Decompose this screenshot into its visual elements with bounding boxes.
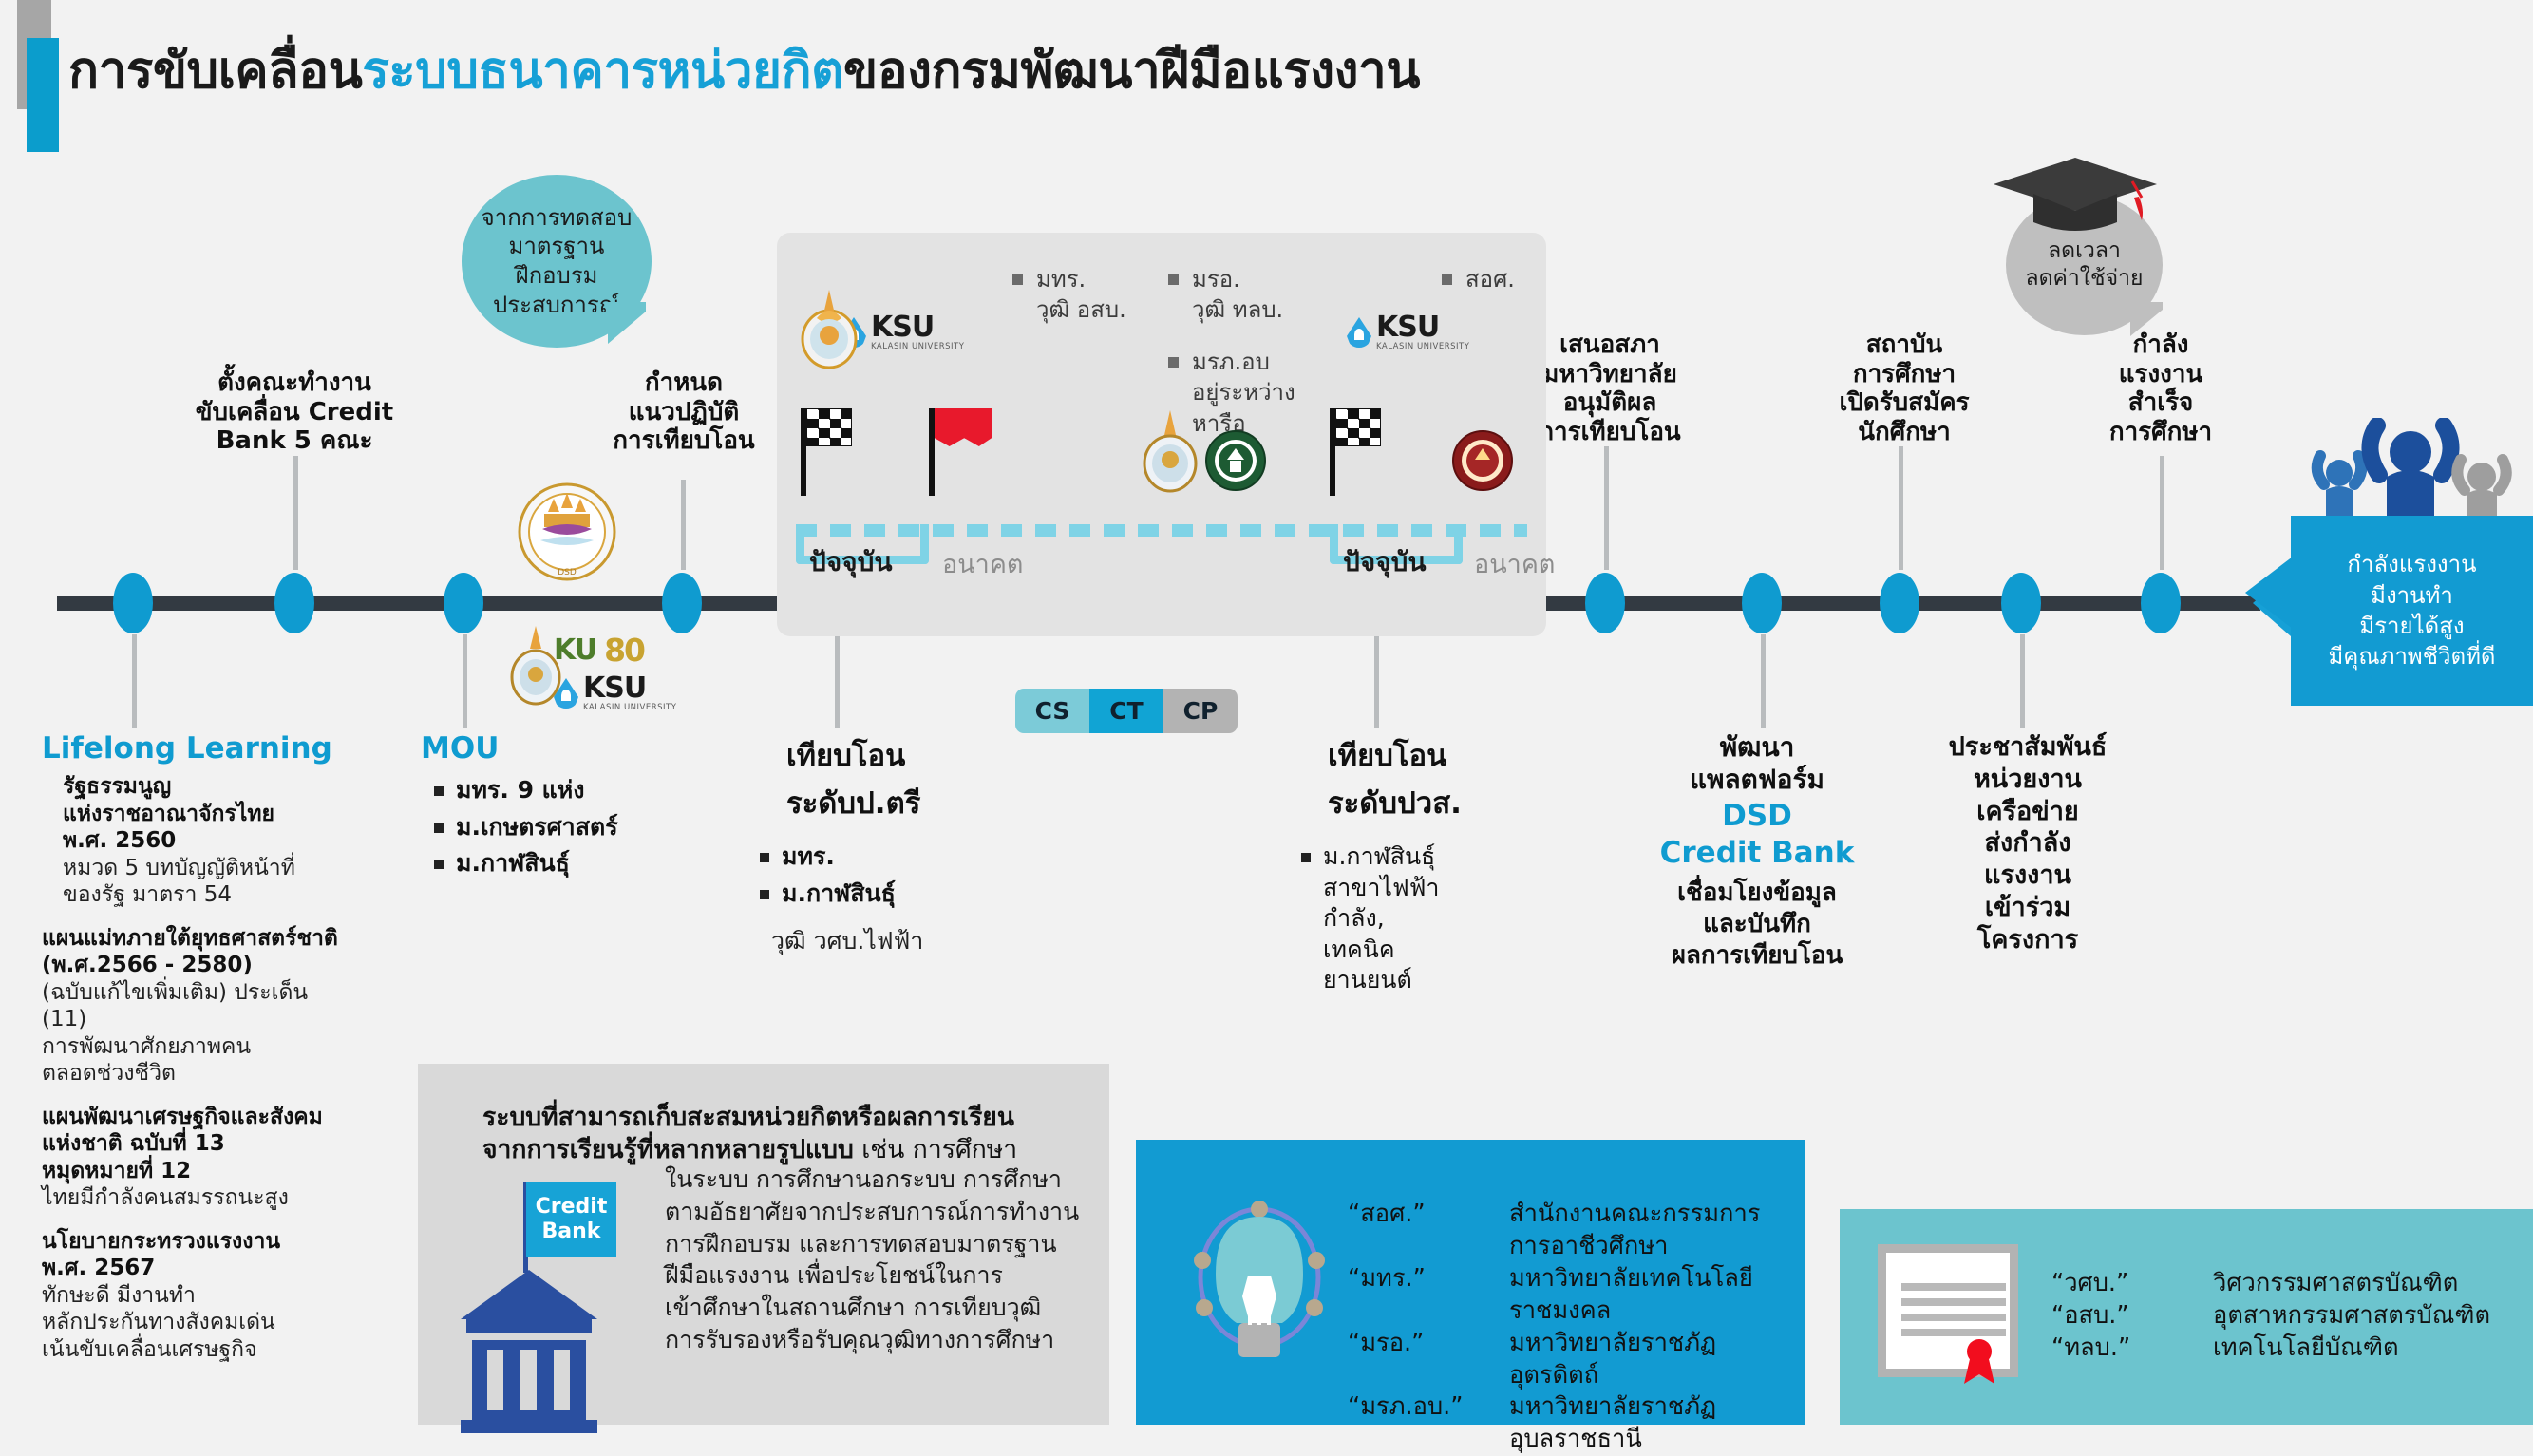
block-line: พ.ศ. 2567	[42, 1255, 355, 1282]
timeline-node-9[interactable]	[1880, 573, 1919, 633]
chip-cp[interactable]: CP	[1163, 689, 1238, 733]
timeline-stem-up-7	[1604, 446, 1609, 570]
outcome-line: กำลังแรงงาน	[2328, 549, 2495, 579]
item-label: ม.กาฬสินธุ์ สาขาไฟฟ้า กำลัง, เทคนิค ยานย…	[1323, 841, 1439, 996]
heading-line: ระดับป.ตรี	[786, 779, 988, 826]
block-line: หมวด 5 บทบัญญัติหน้าที่	[63, 855, 355, 882]
panel-bullets-mtr: มทร. วุฒิ อสบ.	[1012, 264, 1145, 337]
mou-item-label: ม.เกษตรศาสตร์	[456, 812, 618, 843]
definition-body-line: ฝีมือแรงงาน เพื่อประโยชน์ในการ	[665, 1259, 1094, 1292]
bubble-line: ฝึกอบรม	[482, 261, 633, 291]
legend-row: “ทลบ.” เทคโนโลยีบัณฑิต	[2051, 1333, 2507, 1365]
bullet-square-icon	[434, 860, 444, 869]
column-mou: MOU มทร. 9 แห่ง ม.เกษตรศาสตร์ ม.กาฬสินธุ…	[421, 731, 668, 885]
certificate-line	[1901, 1283, 2006, 1291]
university-crest-icon-3	[1204, 429, 1267, 492]
definition-body-line: ตามอัธยาศัยจากประสบการณ์การทำงาน	[665, 1196, 1094, 1228]
definition-title-line: จากการเรียนรู้ที่หลากหลายรูปแบบ	[482, 1135, 854, 1164]
label-line: นักศึกษา	[1819, 418, 1990, 447]
bank-footer-shape	[461, 1420, 597, 1433]
legend-key: “มรภ.อบ.”	[1348, 1391, 1509, 1456]
block-line: แผนแม่ทภายใต้ยุทธศาสตร์ชาติ	[42, 925, 355, 953]
present-label-2: ปัจจุบัน	[1343, 541, 1427, 583]
outcome-line: มีงานทำ	[2328, 580, 2495, 611]
legend-value: สำนักงานคณะกรรมการ	[1509, 1199, 1794, 1231]
block-line: (ฉบับแก้ไขเพิ่มเติม) ประเด็น (11)	[42, 979, 355, 1033]
label-line: แนวปฏิบัติ	[598, 398, 769, 427]
present-label-1: ปัจจุบัน	[809, 541, 893, 583]
transfer-vocational-item: ม.กาฬสินธุ์ สาขาไฟฟ้า กำลัง, เทคนิค ยานย…	[1301, 841, 1539, 996]
lifelong-heading: Lifelong Learning	[42, 731, 355, 766]
graduation-cap-icon	[1990, 152, 2161, 234]
legend-value: มหาวิทยาลัยเทคโนโลยีราชมงคล	[1509, 1263, 1794, 1328]
university-crest-icon-2	[1138, 407, 1202, 494]
block-line: ไทยมีกำลังคนสมรรถนะสูง	[42, 1184, 355, 1212]
timeline-stem-up-4	[681, 480, 686, 570]
transfer-bachelor-heading: เทียบโอน ระดับป.ตรี	[760, 731, 988, 826]
label-line: กำหนด	[598, 369, 769, 398]
label-line: ขับเคลื่อน Credit	[195, 398, 394, 427]
timeline-stem-up-11	[2160, 456, 2164, 570]
mou-heading: MOU	[421, 731, 668, 766]
heading-line: เทียบโอน	[786, 731, 988, 779]
label-line: การศึกษา	[2085, 418, 2237, 447]
pr-line: หน่วยงาน	[1919, 764, 2137, 796]
timeline-node-1[interactable]	[113, 573, 153, 633]
pr-line: เข้าร่วม	[1919, 892, 2137, 924]
legend-row: “มทร.” มหาวิทยาลัยเทคโนโลยีราชมงคล	[1348, 1263, 1794, 1328]
heading-line: ระดับปวส.	[1328, 779, 1539, 826]
heading-line: เทียบโอน	[1328, 731, 1539, 779]
legend-row: “มรอ.” มหาวิทยาลัยราชภัฏอุตรดิตถ์	[1348, 1328, 1794, 1392]
definition-body-line: การฝึกอบรม และการทดสอบมาตรฐาน	[665, 1228, 1094, 1260]
mou-item: ม.กาฬสินธุ์	[434, 848, 668, 879]
dsd-department-seal-icon: DSD	[518, 480, 616, 586]
pr-line: ส่งกำลัง	[1919, 827, 2137, 860]
label-line: เสนอสภา	[1524, 331, 1695, 360]
timeline-stem-down-1	[132, 634, 137, 728]
timeline-stem-down-8	[1761, 634, 1766, 728]
infographic-canvas: การขับเคลื่อนระบบธนาคารหน่วยกิตของกรมพัฒ…	[0, 0, 2533, 1425]
bank-column-2	[520, 1350, 537, 1410]
timeline-node-8[interactable]	[1742, 573, 1782, 633]
timeline-label-guidelines: กำหนด แนวปฏิบัติ การเทียบโอน	[598, 369, 769, 456]
bullet-square-icon	[1442, 274, 1452, 285]
legend-key: “ทลบ.”	[2051, 1333, 2213, 1365]
column-transfer-vocational: เทียบโอน ระดับปวส. ม.กาฬสินธุ์ สาขาไฟฟ้า…	[1301, 731, 1539, 1002]
label-line: แรงงาน	[2085, 360, 2237, 389]
transfer-bachelor-note: วุฒิ วศบ.ไฟฟ้า	[760, 922, 988, 960]
pr-line: โครงการ	[1919, 924, 2137, 956]
block-line: การพัฒนาศักยภาพคน	[42, 1033, 355, 1061]
platform-line: เชื่อมโยงข้อมูล	[1615, 878, 1900, 909]
block-line: หลักประกันทางสังคมเด่น	[42, 1309, 355, 1336]
pr-line: แรงงาน	[1919, 860, 2137, 892]
block-line: ของรัฐ มาตรา 54	[63, 881, 355, 909]
definition-body-line: เข้าศึกษาในสถานศึกษา การเทียบวุฒิ	[665, 1292, 1094, 1324]
lifelong-block-nesdp: แผนพัฒนาเศรษฐกิจและสังคม แห่งชาติ ฉบับที…	[42, 1104, 355, 1212]
block-line: นโยบายกระทรวงแรงงาน	[42, 1228, 355, 1256]
bullet-line: อยู่ระหว่าง	[1192, 377, 1295, 407]
bank-column-3	[554, 1350, 570, 1410]
page-title-accent: ระบบธนาคารหน่วยกิต	[362, 42, 843, 100]
block-line: (พ.ศ.2566 - 2580)	[42, 952, 355, 979]
bullet-line: มทร.	[1036, 264, 1126, 294]
panel-bullet-item: มทร. วุฒิ อสบ.	[1012, 264, 1145, 326]
ksu-subtitle: KALASIN UNIVERSITY	[1376, 342, 1469, 351]
pr-line: ประชาสัมพันธ์	[1919, 731, 2137, 764]
rmut-crest-icon	[796, 280, 862, 370]
lightbulb-icon	[1183, 1192, 1335, 1382]
item-label: มทร.	[782, 841, 835, 873]
timeline-stem-down-5	[835, 634, 840, 728]
legend-key: “อสบ.”	[2051, 1300, 2213, 1333]
column-lifelong-learning: Lifelong Learning รัฐธรรมนูญ แห่งราชอาณา…	[42, 731, 355, 1379]
timeline-node-4[interactable]	[662, 573, 702, 633]
block-line: ทักษะดี มีงานทำ	[42, 1282, 355, 1310]
platform-line: แพลตฟอร์ม	[1615, 764, 1900, 796]
ksu-wordmark: KSU	[583, 674, 676, 703]
outcome-line: มีรายได้สูง	[2328, 611, 2495, 641]
svg-text:DSD: DSD	[558, 568, 577, 577]
timeline-node-7[interactable]	[1585, 573, 1625, 633]
ku-80-logo: KU 80	[554, 634, 644, 666]
certificate-icon	[1878, 1244, 2018, 1377]
item-label: ม.กาฬสินธุ์	[782, 879, 896, 910]
outcome-arrow	[2245, 557, 2293, 629]
future-label-2: อนาคต	[1474, 543, 1555, 584]
timeline-stem-down-10	[2020, 634, 2025, 728]
bullet-line: วุฒิ อสบ.	[1036, 294, 1126, 325]
mou-item: ม.เกษตรศาสตร์	[434, 812, 668, 843]
bullet-square-icon	[434, 823, 444, 833]
block-line: เน้นขับเคลื่อนเศรษฐกิจ	[42, 1336, 355, 1364]
header-accent-bar-blue	[27, 38, 59, 152]
timeline-node-11[interactable]	[2141, 573, 2181, 633]
label-line: Bank 5 คณะ	[195, 426, 394, 456]
mou-item-label: ม.กาฬสินธุ์	[456, 848, 570, 879]
page-title: การขับเคลื่อนระบบธนาคารหน่วยกิตของกรมพัฒ…	[68, 30, 1420, 110]
platform-line: พัฒนา	[1615, 731, 1900, 764]
bullet-line: วุฒิ ทลบ.	[1192, 294, 1283, 325]
timeline-stem-down-6	[1374, 634, 1379, 728]
lifelong-block-masterplan: แผนแม่ทภายใต้ยุทธศาสตร์ชาติ (พ.ศ.2566 - …	[42, 925, 355, 1087]
ksu-logo-bottom: KSU KALASIN UNIVERSITY	[554, 674, 676, 712]
timeline-stem-down-3	[463, 634, 467, 728]
panel-bullet-item: สอศ.	[1442, 264, 1556, 294]
legend-row: “มรภ.อบ.” มหาวิทยาลัยราชภัฏอุบลราชธานี	[1348, 1391, 1794, 1456]
timeline-node-2[interactable]	[274, 573, 314, 633]
ksu-subtitle: KALASIN UNIVERSITY	[583, 703, 676, 712]
mou-item-label: มทร. 9 แห่ง	[456, 775, 585, 806]
ksu-wordmark: KSU	[1376, 313, 1469, 342]
column-transfer-bachelor: เทียบโอน ระดับป.ตรี มทร. ม.กาฬสินธุ์ วุฒ…	[760, 731, 988, 960]
label-line: อนุมัติผล	[1524, 388, 1695, 418]
bubble-line: ลดค่าใช้จ่าย	[2025, 265, 2143, 293]
timeline-label-working-group: ตั้งคณะทำงาน ขับเคลื่อน Credit Bank 5 คณ…	[195, 369, 394, 456]
bubble-line: ลดเวลา	[2025, 237, 2143, 265]
legend-value: เทคโนโลยีบัณฑิต	[2213, 1333, 2507, 1365]
platform-accent-line: DSD	[1615, 798, 1900, 835]
page-title-part1: การขับเคลื่อน	[68, 42, 362, 100]
bullet-square-icon	[1168, 357, 1179, 368]
bank-roof-shape	[461, 1270, 597, 1319]
block-line: รัฐธรรมนูญ	[63, 773, 355, 801]
column-platform: พัฒนา แพลตฟอร์ม DSD Credit Bank เชื่อมโย…	[1615, 731, 1900, 972]
panel-bullet-item: มรอ. วุฒิ ทลบ.	[1168, 264, 1320, 326]
definition-body-line: ในระบบ การศึกษานอกระบบ การศึกษา	[665, 1163, 1094, 1196]
timeline-label-graduation: กำลัง แรงงาน สำเร็จ การศึกษา	[2085, 331, 2237, 447]
bullet-square-icon	[1012, 274, 1023, 285]
block-line: หมุดหมายที่ 12	[42, 1158, 355, 1185]
certificate-ribbon-icon	[1956, 1338, 2002, 1388]
ksu-wordmark: KSU	[871, 313, 964, 342]
bank-flag-line: Bank	[542, 1220, 601, 1244]
bullet-square-icon	[1301, 853, 1311, 862]
timeline-stem-up-9	[1899, 446, 1903, 570]
credit-type-chips: CS CT CP	[1015, 689, 1238, 733]
checkered-flag-icon-2	[1335, 408, 1381, 446]
legend-value: วิศวกรรมศาสตรบัณฑิต	[2213, 1268, 2507, 1300]
credit-bank-icon: Credit Bank	[461, 1182, 603, 1439]
bank-flag-line: Credit	[536, 1195, 608, 1220]
lifelong-block-constitution: รัฐธรรมนูญ แห่งราชอาณาจักรไทย พ.ศ. 2560 …	[63, 773, 355, 909]
outcome-line: มีคุณภาพชีวิตที่ดี	[2328, 641, 2495, 671]
ksu-logo-right: KSU KALASIN UNIVERSITY	[1347, 313, 1469, 351]
ksu-droplet-icon	[554, 678, 578, 709]
ksu-droplet-icon	[1347, 317, 1371, 348]
legend-key: “วศบ.”	[2051, 1268, 2213, 1300]
legend-value: มหาวิทยาลัยราชภัฏอุบลราชธานี	[1509, 1391, 1794, 1456]
label-line: มหาวิทยาลัย	[1524, 360, 1695, 389]
bubble-line: จากการทดสอบ	[482, 203, 633, 233]
outcome-card: กำลังแรงงาน มีงานทำ มีรายได้สูง มีคุณภาพ…	[2291, 516, 2533, 706]
pr-line: เครือข่าย	[1919, 796, 2137, 828]
label-line: ตั้งคณะทำงาน	[195, 369, 394, 398]
certificate-line	[1901, 1314, 2006, 1321]
transfer-bachelor-item: มทร.	[760, 841, 988, 873]
chip-ct[interactable]: CT	[1089, 689, 1163, 733]
legend-key: “มทร.”	[1348, 1263, 1509, 1328]
university-crest-icon-4	[1451, 429, 1514, 492]
bullet-line: มรอ.	[1192, 264, 1283, 294]
legend-row: “อสบ.” อุตสาหกรรมศาสตรบัณฑิต	[2051, 1300, 2507, 1333]
timeline-label-council-approval: เสนอสภา มหาวิทยาลัย อนุมัติผล การเทียบโอ…	[1524, 331, 1695, 447]
bank-base-shape	[466, 1319, 592, 1333]
label-line: การเทียบโอน	[598, 426, 769, 456]
bullet-line: สอศ.	[1465, 264, 1515, 294]
block-line: ตลอดช่วงชีวิต	[42, 1060, 355, 1087]
certificate-line	[1901, 1298, 2006, 1306]
bullet-square-icon	[434, 786, 444, 796]
legend-value-cont: การอาชีวศึกษา	[1509, 1231, 1794, 1263]
label-line: สำเร็จ	[2085, 388, 2237, 418]
certificate-line	[1901, 1329, 2006, 1336]
column-public-relations: ประชาสัมพันธ์ หน่วยงาน เครือข่าย ส่งกำลั…	[1919, 731, 2137, 955]
checkered-flag-icon-1	[806, 408, 852, 446]
legend-row: “วศบ.” วิศวกรรมศาสตรบัณฑิต	[2051, 1268, 2507, 1300]
bubble-line: มาตรฐาน	[482, 232, 633, 261]
bank-column-1	[487, 1350, 503, 1410]
bullet-square-icon	[760, 890, 769, 899]
timeline-stem-up-2	[293, 456, 298, 570]
block-line: แห่งชาติ ฉบับที่ 13	[42, 1130, 355, 1158]
speech-bubble-assessment-tail	[608, 302, 646, 344]
lifelong-block-policy: นโยบายกระทรวงแรงงาน พ.ศ. 2567 ทักษะดี มี…	[42, 1228, 355, 1364]
definition-title-tail: เช่น การศึกษา	[854, 1135, 1017, 1164]
legend-row-cont: การอาชีวศึกษา	[1348, 1231, 1794, 1263]
label-line: การศึกษา	[1819, 360, 1990, 389]
block-line: แห่งราชอาณาจักรไทย	[63, 801, 355, 828]
legend-key: “สอศ.”	[1348, 1199, 1509, 1231]
legend-rows-degrees: “วศบ.” วิศวกรรมศาสตรบัณฑิต “อสบ.” อุตสาห…	[2051, 1268, 2507, 1365]
platform-line: ผลการเทียบโอน	[1615, 940, 1900, 972]
label-line: เปิดรับสมัคร	[1819, 388, 1990, 418]
definition-body: ในระบบ การศึกษานอกระบบ การศึกษา ตามอัธยา…	[665, 1163, 1094, 1356]
definition-body-line: การรับรองหรือรับคุณวุฒิทางการศึกษา	[665, 1324, 1094, 1356]
ksu-subtitle: KALASIN UNIVERSITY	[871, 342, 964, 351]
definition-title-line: ระบบที่สามารถเก็บสะสมหน่วยกิตหรือผลการเร…	[482, 1103, 1014, 1132]
bank-flag-label: Credit Bank	[526, 1182, 616, 1257]
platform-accent-line: Credit Bank	[1615, 835, 1900, 872]
transfer-vocational-heading: เทียบโอน ระดับปวส.	[1301, 731, 1539, 826]
legend-value: มหาวิทยาลัยราชภัฏอุตรดิตถ์	[1509, 1328, 1794, 1392]
block-line: พ.ศ. 2560	[63, 827, 355, 855]
timeline-node-3[interactable]	[444, 573, 483, 633]
timeline-label-enrollment: สถาบัน การศึกษา เปิดรับสมัคร นักศึกษา	[1819, 331, 1990, 447]
bullet-square-icon	[1168, 274, 1179, 285]
platform-line: และบันทึก	[1615, 909, 1900, 940]
celebrating-people-icon	[2303, 418, 2522, 522]
legend-row: “สอศ.” สำนักงานคณะกรรมการ	[1348, 1199, 1794, 1231]
block-line: แผนพัฒนาเศรษฐกิจและสังคม	[42, 1104, 355, 1131]
transfer-bachelor-item: ม.กาฬสินธุ์	[760, 879, 988, 910]
legend-key: “มรอ.”	[1348, 1328, 1509, 1392]
definition-title: ระบบที่สามารถเก็บสะสมหน่วยกิตหรือผลการเร…	[482, 1102, 1090, 1167]
legend-value: อุตสาหกรรมศาสตรบัณฑิต	[2213, 1300, 2507, 1333]
timeline-node-10[interactable]	[2001, 573, 2041, 633]
legend-rows-institutions: “สอศ.” สำนักงานคณะกรรมการ การอาชีวศึกษา …	[1348, 1199, 1794, 1456]
panel-bullets-sws: สอศ.	[1442, 264, 1556, 306]
bullet-line: มรภ.อบ	[1192, 347, 1295, 377]
speech-bubble-benefit-tail	[2130, 302, 2163, 336]
page-title-part2: ของกรมพัฒนาฝีมือแรงงาน	[843, 42, 1420, 100]
mou-item: มทร. 9 แห่ง	[434, 775, 668, 806]
future-label-1: อนาคต	[942, 543, 1023, 584]
chip-cs[interactable]: CS	[1015, 689, 1089, 733]
label-line: สถาบัน	[1819, 331, 1990, 360]
bullet-square-icon	[760, 853, 769, 862]
label-line: การเทียบโอน	[1524, 418, 1695, 447]
red-flag-pole	[929, 408, 935, 496]
